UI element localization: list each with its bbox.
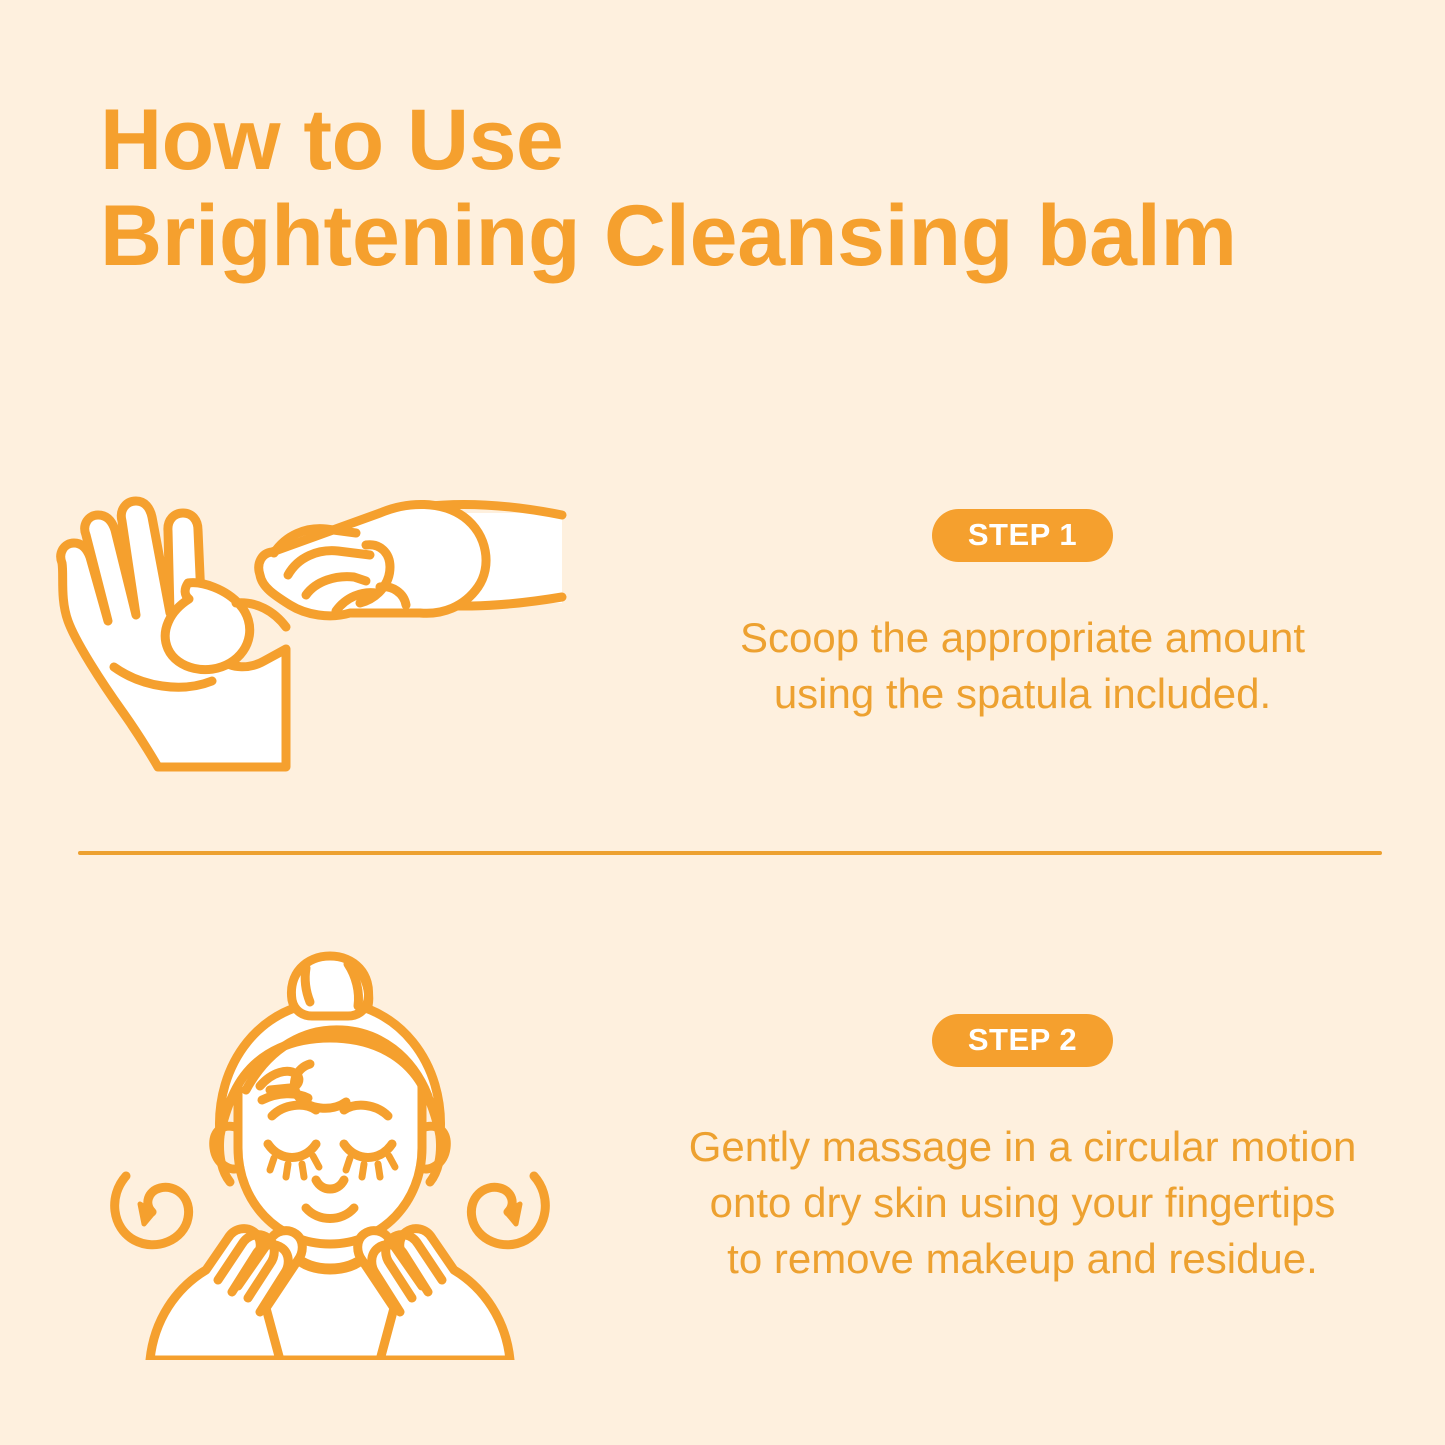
step-1-description-line-1: Scoop the appropriate amount [740,614,1305,661]
step-1-description-line-2: using the spatula included. [774,670,1271,717]
hands-scooping-balm-illustration [50,435,610,795]
step-2-description-line-3: to remove makeup and residue. [727,1235,1318,1282]
step-2-illustration-container [0,940,660,1360]
page-title: How to Use Brightening Cleansing balm [100,92,1340,284]
step-1-illustration-container [0,435,660,795]
section-divider [78,851,1382,855]
page-root: How to Use Brightening Cleansing balm [0,0,1445,1445]
step-1-row: STEP 1 Scoop the appropriate amount usin… [0,400,1445,830]
woman-massaging-face-illustration [110,940,550,1360]
step-2-description-line-1: Gently massage in a circular motion [689,1123,1357,1170]
step-2-text-container: STEP 2 Gently massage in a circular moti… [660,1014,1445,1287]
step-1-badge: STEP 1 [932,509,1113,562]
step-2-description-line-2: onto dry skin using your fingertips [710,1179,1336,1226]
step-2-description: Gently massage in a circular motion onto… [689,1119,1357,1287]
step-2-badge: STEP 2 [932,1014,1113,1067]
step-1-text-container: STEP 1 Scoop the appropriate amount usin… [660,509,1445,722]
step-1-description: Scoop the appropriate amount using the s… [740,610,1305,722]
step-2-row: STEP 2 Gently massage in a circular moti… [0,920,1445,1380]
title-line-1: How to Use [100,92,1340,188]
title-line-2: Brightening Cleansing balm [100,188,1340,284]
